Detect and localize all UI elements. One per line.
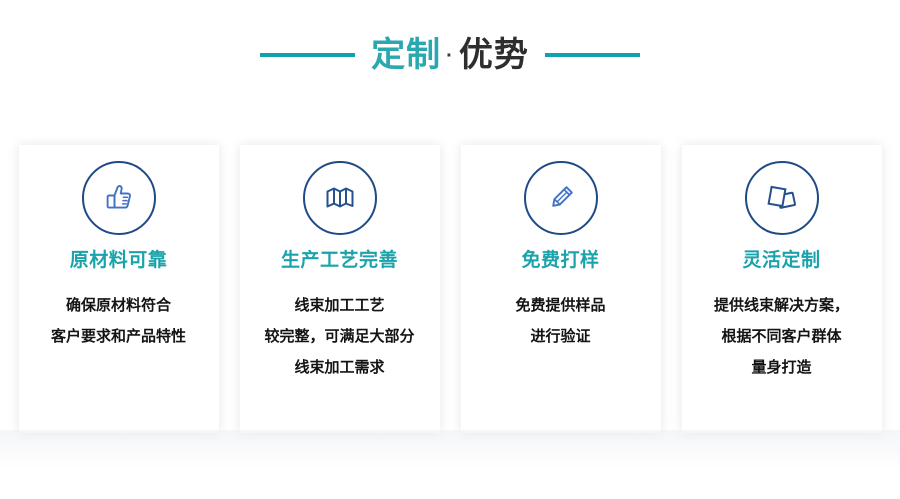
- feature-card-body-line: 线束加工工艺: [251, 290, 429, 321]
- feature-card[interactable]: 原材料可靠 确保原材料符合 客户要求和产品特性: [19, 145, 219, 433]
- feature-card-body-line: 根据不同客户群体: [693, 321, 871, 352]
- feature-card-title: 生产工艺完善: [281, 251, 398, 270]
- feature-card[interactable]: 免费打样 免费提供样品 进行验证: [461, 145, 661, 433]
- feature-card-body-line: 提供线束解决方案，: [693, 290, 871, 321]
- pencil-icon: [541, 178, 581, 218]
- feature-card-body-line: 确保原材料符合: [30, 290, 208, 321]
- feature-card-body: 免费提供样品 进行验证: [472, 290, 650, 352]
- feature-card-body: 确保原材料符合 客户要求和产品特性: [30, 290, 208, 352]
- page-title-plain: 优势: [459, 38, 529, 72]
- icon-circle: [524, 161, 598, 235]
- icon-circle: [303, 161, 377, 235]
- stacked-cards-icon: [762, 178, 802, 218]
- feature-card-body-line: 进行验证: [472, 321, 650, 352]
- feature-card[interactable]: 灵活定制 提供线束解决方案， 根据不同客户群体 量身打造: [682, 145, 882, 433]
- feature-card-body: 提供线束解决方案， 根据不同客户群体 量身打造: [693, 290, 871, 383]
- icon-circle: [82, 161, 156, 235]
- feature-card-body-line: 免费提供样品: [472, 290, 650, 321]
- feature-card-body: 线束加工工艺 较完整，可满足大部分 线束加工需求: [251, 290, 429, 383]
- page-title: 定制 · 优势: [371, 38, 529, 72]
- feature-card-title: 原材料可靠: [70, 251, 168, 270]
- feature-card-body-line: 量身打造: [693, 352, 871, 383]
- feature-card-body-line: 线束加工需求: [251, 352, 429, 383]
- feature-card-body-line: 较完整，可满足大部分: [251, 321, 429, 352]
- feature-card-title: 免费打样: [521, 251, 599, 270]
- feature-card-list: 原材料可靠 确保原材料符合 客户要求和产品特性 生产工艺完善 线束加工工艺 较完…: [0, 145, 900, 455]
- section-header: 定制 · 优势: [0, 0, 900, 110]
- feature-card-body-line: 客户要求和产品特性: [30, 321, 208, 352]
- title-rule-left: [260, 53, 355, 57]
- feature-card-title: 灵活定制: [742, 251, 820, 270]
- thumbs-up-icon: [99, 178, 139, 218]
- folded-map-icon: [320, 178, 360, 218]
- page-title-separator: ·: [444, 46, 456, 66]
- icon-circle: [745, 161, 819, 235]
- page-title-accent: 定制: [371, 38, 441, 72]
- title-rule-right: [545, 53, 640, 57]
- feature-card[interactable]: 生产工艺完善 线束加工工艺 较完整，可满足大部分 线束加工需求: [240, 145, 440, 433]
